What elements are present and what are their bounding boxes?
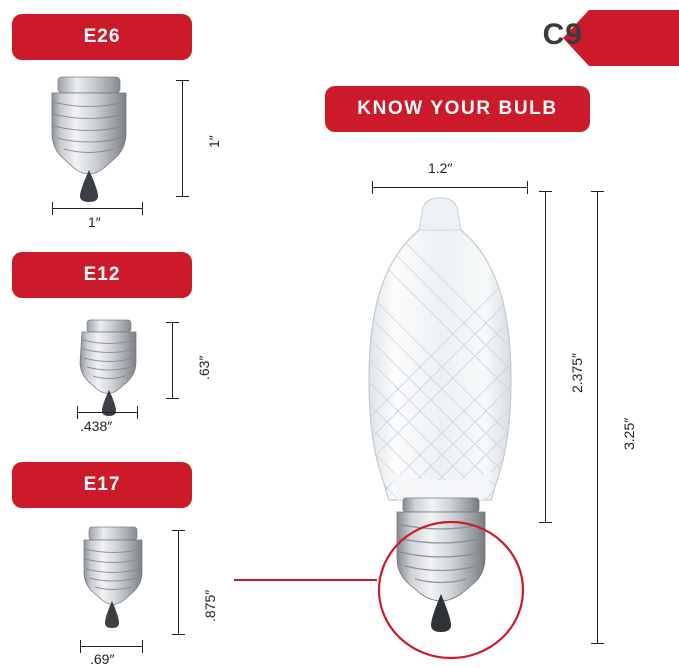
e17-height-cap-bottom	[172, 634, 185, 635]
bulb-total-height-label: 3.25″	[621, 418, 637, 450]
e12-height-cap-bottom	[166, 398, 179, 399]
bulb-glass-height-cap-top	[539, 191, 552, 192]
bulb-total-height-rule	[597, 191, 598, 643]
bulb-width-label: 1.2″	[428, 160, 452, 176]
know-your-bulb-banner: KNOW YOUR BULB	[325, 86, 590, 132]
e12-height-rule	[172, 322, 173, 398]
bulb-width-cap-right	[527, 181, 528, 194]
bulb-glass-height-rule	[545, 191, 546, 522]
base-e12-illustration	[57, 318, 177, 423]
e26-width-rule	[52, 208, 142, 209]
e17-width-cap-left	[80, 640, 81, 653]
e26-width-label: 1″	[88, 214, 101, 230]
tag-e12: E12	[12, 252, 192, 298]
e26-height-label: 1″	[206, 135, 222, 148]
corner-label: C9	[543, 18, 583, 52]
bulb-width-rule	[372, 187, 527, 188]
tag-e17: E17	[12, 462, 192, 508]
e26-height-cap-top	[176, 80, 189, 81]
e26-width-cap-left	[52, 202, 53, 215]
e26-height-rule	[182, 80, 183, 196]
e26-width-cap-right	[142, 202, 143, 215]
e17-width-rule	[80, 646, 142, 647]
bulb-total-height-cap-bottom	[591, 643, 604, 644]
e12-height-label: .63″	[196, 356, 212, 380]
e17-height-rule	[178, 530, 179, 634]
e12-width-cap-right	[137, 406, 138, 419]
base-e26-illustration	[24, 75, 184, 205]
corner-banner	[589, 10, 679, 66]
e12-width-cap-left	[77, 406, 78, 419]
tag-e26: E26	[12, 14, 192, 60]
e17-height-cap-top	[172, 530, 185, 531]
bulb-total-height-cap-top	[591, 191, 604, 192]
bulb-glass-height-cap-bottom	[539, 522, 552, 523]
bulb-glass-height-label: 2.375″	[569, 353, 585, 393]
bulb-width-cap-left	[372, 181, 373, 194]
e12-width-rule	[77, 412, 137, 413]
callout-circle-icon	[372, 518, 530, 668]
e12-width-label: .438″	[80, 418, 112, 434]
e17-height-label: .875″	[202, 590, 218, 622]
e17-width-cap-right	[142, 640, 143, 653]
e26-height-cap-bottom	[176, 196, 189, 197]
e12-height-cap-top	[166, 322, 179, 323]
base-e17-illustration	[57, 525, 182, 635]
